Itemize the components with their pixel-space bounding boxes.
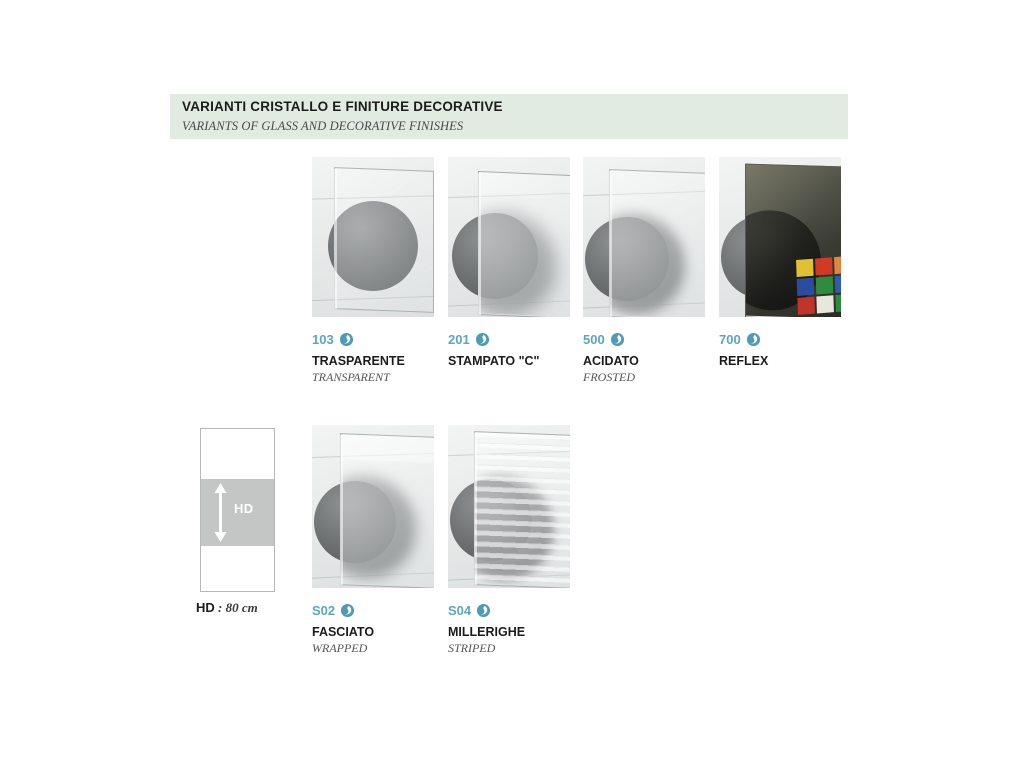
sample-photo-stampato-c [448, 157, 570, 317]
sample-code-row: 700 [719, 331, 841, 347]
hd-caption-value: 80 cm [226, 600, 258, 615]
sample-card-500[interactable]: 500 ACIDATO FROSTED [583, 157, 705, 385]
hd-band-label: HD [234, 501, 253, 516]
page-title: VARIANTI CRISTALLO E FINITURE DECORATIVE [182, 99, 503, 114]
sample-code-row: 201 [448, 331, 570, 347]
sample-code: 201 [448, 333, 470, 346]
eco-circle-icon [340, 603, 355, 618]
sample-name-it: REFLEX [719, 354, 841, 368]
sample-name-en: STRIPED [448, 642, 570, 656]
sample-name-it: FASCIATO [312, 625, 434, 639]
hd-caption-sep: : [215, 600, 226, 615]
sample-card-103[interactable]: 103 TRASPARENTE TRANSPARENT [312, 157, 434, 385]
eco-circle-icon [476, 603, 491, 618]
sample-name-it: STAMPATO "C" [448, 354, 570, 368]
page-subtitle: VARIANTS OF GLASS AND DECORATIVE FINISHE… [182, 119, 463, 134]
sample-photo-fasciato [312, 425, 434, 588]
hd-caption: HD : 80 cm [196, 600, 258, 616]
eco-circle-icon [610, 332, 625, 347]
eco-circle-icon [339, 332, 354, 347]
sample-code: 700 [719, 333, 741, 346]
catalog-page: VARIANTI CRISTALLO E FINITURE DECORATIVE… [0, 0, 1024, 768]
hd-caption-key: HD [196, 600, 215, 615]
sample-name-it: TRASPARENTE [312, 354, 434, 368]
sample-name-en: WRAPPED [312, 642, 434, 656]
hd-double-arrow-icon [214, 483, 227, 542]
sample-code: 500 [583, 333, 605, 346]
sample-photo-acidato [583, 157, 705, 317]
sample-photo-millerighe [448, 425, 570, 588]
eco-circle-icon [475, 332, 490, 347]
sample-name-it: MILLERIGHE [448, 625, 570, 639]
sample-code-row: S02 [312, 602, 434, 618]
sample-code: S04 [448, 604, 471, 617]
eco-circle-icon [746, 332, 761, 347]
sample-code-row: 500 [583, 331, 705, 347]
sample-code-row: 103 [312, 331, 434, 347]
hd-diagram: HD [200, 428, 275, 592]
sample-code: 103 [312, 333, 334, 346]
sample-code-row: S04 [448, 602, 570, 618]
sample-photo-trasparente [312, 157, 434, 317]
sample-card-201[interactable]: 201 STAMPATO "C" [448, 157, 570, 371]
sample-card-700[interactable]: 700 REFLEX [719, 157, 841, 371]
sample-name-en: TRANSPARENT [312, 371, 434, 385]
sample-photo-reflex [719, 157, 841, 317]
sample-card-s02[interactable]: S02 FASCIATO WRAPPED [312, 425, 434, 656]
sample-code: S02 [312, 604, 335, 617]
sample-name-it: ACIDATO [583, 354, 705, 368]
sample-card-s04[interactable]: S04 MILLERIGHE STRIPED [448, 425, 570, 656]
sample-name-en: FROSTED [583, 371, 705, 385]
